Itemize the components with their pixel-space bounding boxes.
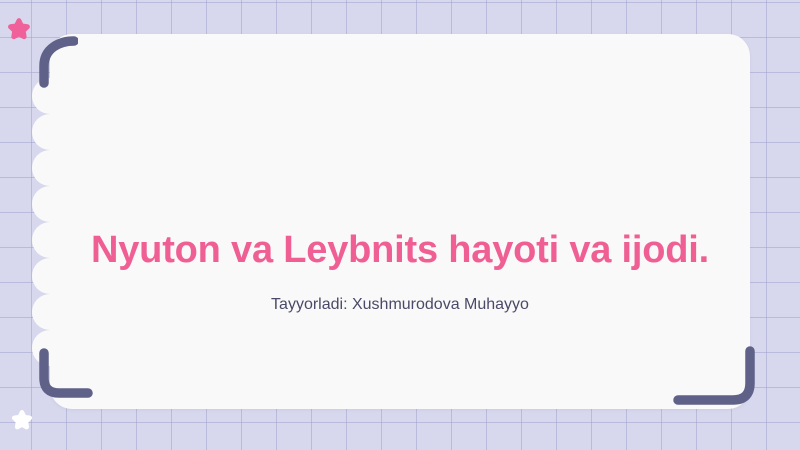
slide-subtitle: Tayyorladi: Xushmurodova Muhayyo xyxy=(60,295,740,316)
star-icon xyxy=(10,408,34,432)
star-icon xyxy=(6,16,32,42)
slide-card xyxy=(50,34,750,409)
presentation-slide: Nyuton va Leybnits hayoti va ijodi. Tayy… xyxy=(0,0,800,450)
slide-text-block: Nyuton va Leybnits hayoti va ijodi. Tayy… xyxy=(60,228,740,316)
page-title: Nyuton va Leybnits hayoti va ijodi. xyxy=(60,228,740,273)
